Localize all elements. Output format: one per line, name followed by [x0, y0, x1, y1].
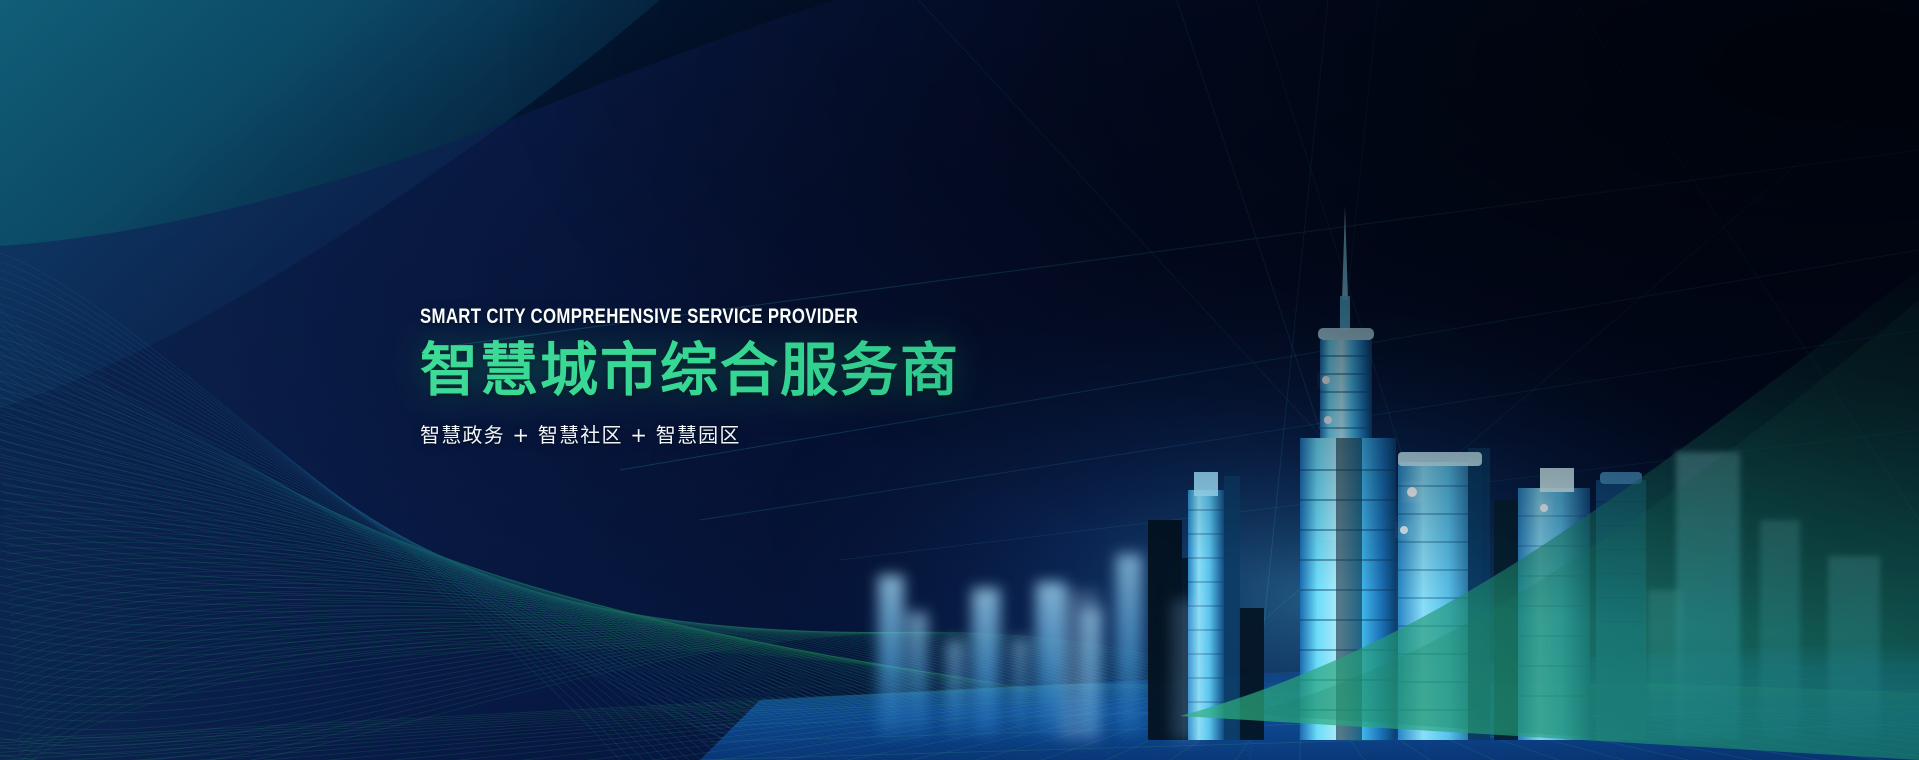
banner-subline: 智慧政务 + 智慧社区 + 智慧园区 — [420, 419, 1120, 448]
banner-headline: 智慧城市综合服务商 — [420, 336, 1120, 404]
hero-banner: SMART CITY COMPREHENSIVE SERVICE PROVIDE… — [0, 0, 1919, 760]
central-tower — [1300, 206, 1396, 740]
hero-text-block: SMART CITY COMPREHENSIVE SERVICE PROVIDE… — [420, 305, 1120, 448]
banner-eyebrow: SMART CITY COMPREHENSIVE SERVICE PROVIDE… — [420, 305, 980, 328]
